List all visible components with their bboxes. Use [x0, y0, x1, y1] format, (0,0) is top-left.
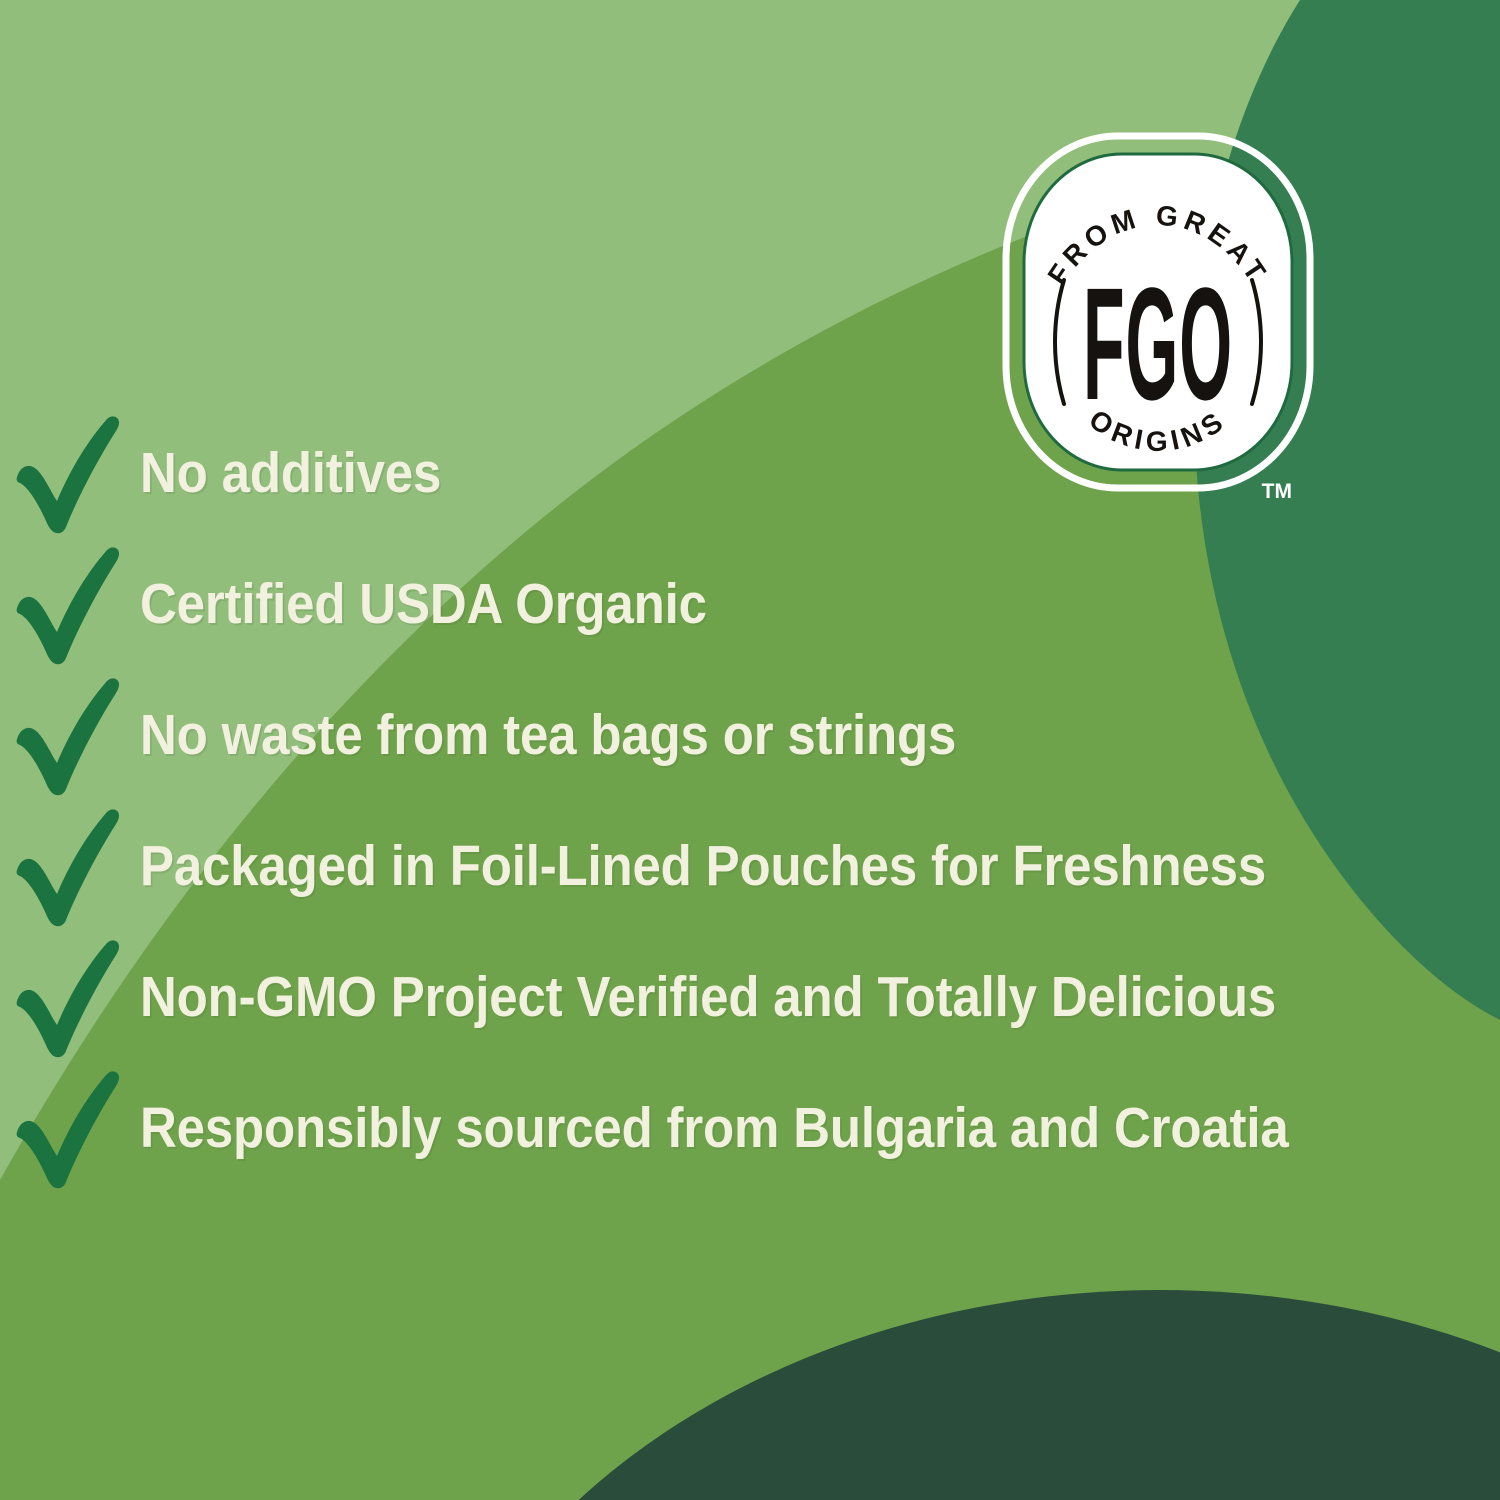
trademark-icon: TM	[1262, 480, 1292, 503]
feature-list: No additives Certified USDA Organic No w…	[0, 408, 1460, 1194]
feature-label: Non-GMO Project Verified and Totally Del…	[140, 968, 1276, 1026]
checkmark-icon	[0, 408, 140, 539]
promo-graphic: No additives Certified USDA Organic No w…	[0, 0, 1500, 1500]
feature-item-responsibly-sourced: Responsibly sourced from Bulgaria and Cr…	[0, 1063, 1460, 1194]
checkmark-icon	[0, 539, 140, 670]
feature-item-non-gmo-verified: Non-GMO Project Verified and Totally Del…	[0, 932, 1460, 1063]
feature-label: Certified USDA Organic	[140, 575, 707, 633]
feature-item-foil-lined-pouches: Packaged in Foil-Lined Pouches for Fresh…	[0, 801, 1460, 932]
feature-label: Responsibly sourced from Bulgaria and Cr…	[140, 1099, 1289, 1157]
logo-monogram: FGO	[1083, 254, 1233, 433]
checkmark-icon	[0, 1063, 140, 1194]
feature-label: No waste from tea bags or strings	[140, 706, 956, 764]
feature-label: No additives	[140, 444, 441, 502]
feature-item-certified-usda-organic: Certified USDA Organic	[0, 539, 1460, 670]
checkmark-icon	[0, 932, 140, 1063]
feature-item-no-waste: No waste from tea bags or strings	[0, 670, 1460, 801]
feature-label: Packaged in Foil-Lined Pouches for Fresh…	[140, 837, 1266, 895]
checkmark-icon	[0, 801, 140, 932]
checkmark-icon	[0, 670, 140, 801]
fgo-logo: FROM GREAT FGO ORIGINS TM	[1002, 132, 1314, 500]
